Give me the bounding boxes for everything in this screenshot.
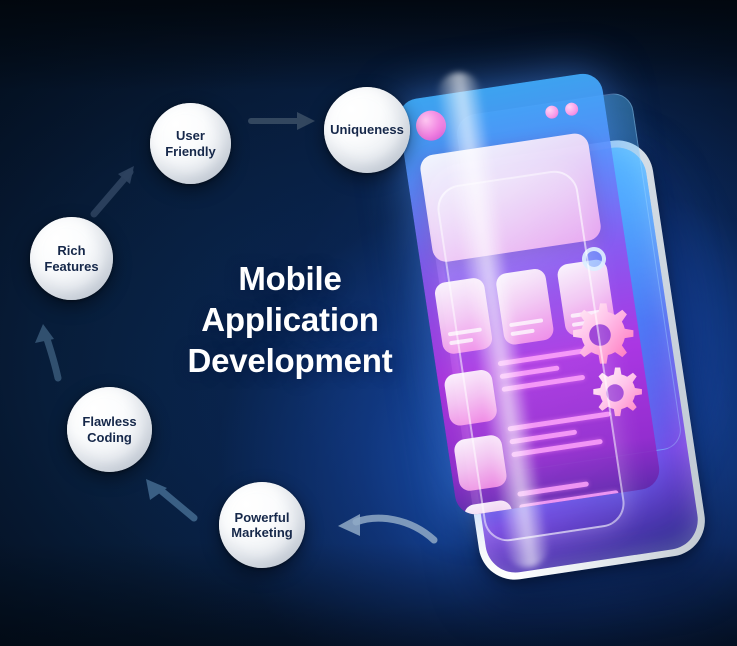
poster-canvas: User Friendly Uniqueness Rich Features F… [0,0,737,646]
cycle-node-label: Features [40,259,102,274]
page-title-line: Mobile [150,258,430,299]
arrow-rich-to-user [88,158,146,220]
cycle-node-label: Powerful [227,510,296,525]
cycle-node-label: Marketing [227,525,296,540]
cycle-node-label: Flawless [78,414,140,429]
cycle-node-label: Friendly [161,144,220,159]
cycle-node-label: Coding [78,430,140,445]
page-title: Mobile Application Development [150,258,430,381]
cycle-node-label: User [161,128,220,143]
arrow-flawless-to-rich [32,320,80,382]
cycle-node-powerful-marketing[interactable]: Powerful Marketing [219,482,305,568]
cycle-node-label: Uniqueness [326,122,408,137]
cycle-node-flawless-coding[interactable]: Flawless Coding [67,387,152,472]
cycle-node-user-friendly[interactable]: User Friendly [150,103,231,184]
header-dot-icon [564,102,579,117]
cycle-node-uniqueness[interactable]: Uniqueness [324,87,410,173]
cycle-node-rich-features[interactable]: Rich Features [30,217,113,300]
cycle-node-label: Rich [40,243,102,258]
page-title-line: Development [150,340,430,381]
page-title-line: Application [150,299,430,340]
arrow-phone-to-marketing [330,506,440,552]
arrow-user-to-uniqueness [247,106,323,136]
smartphone-illustration [396,64,737,584]
header-dot-icon [544,105,559,120]
arrow-marketing-to-flawless [134,472,202,524]
